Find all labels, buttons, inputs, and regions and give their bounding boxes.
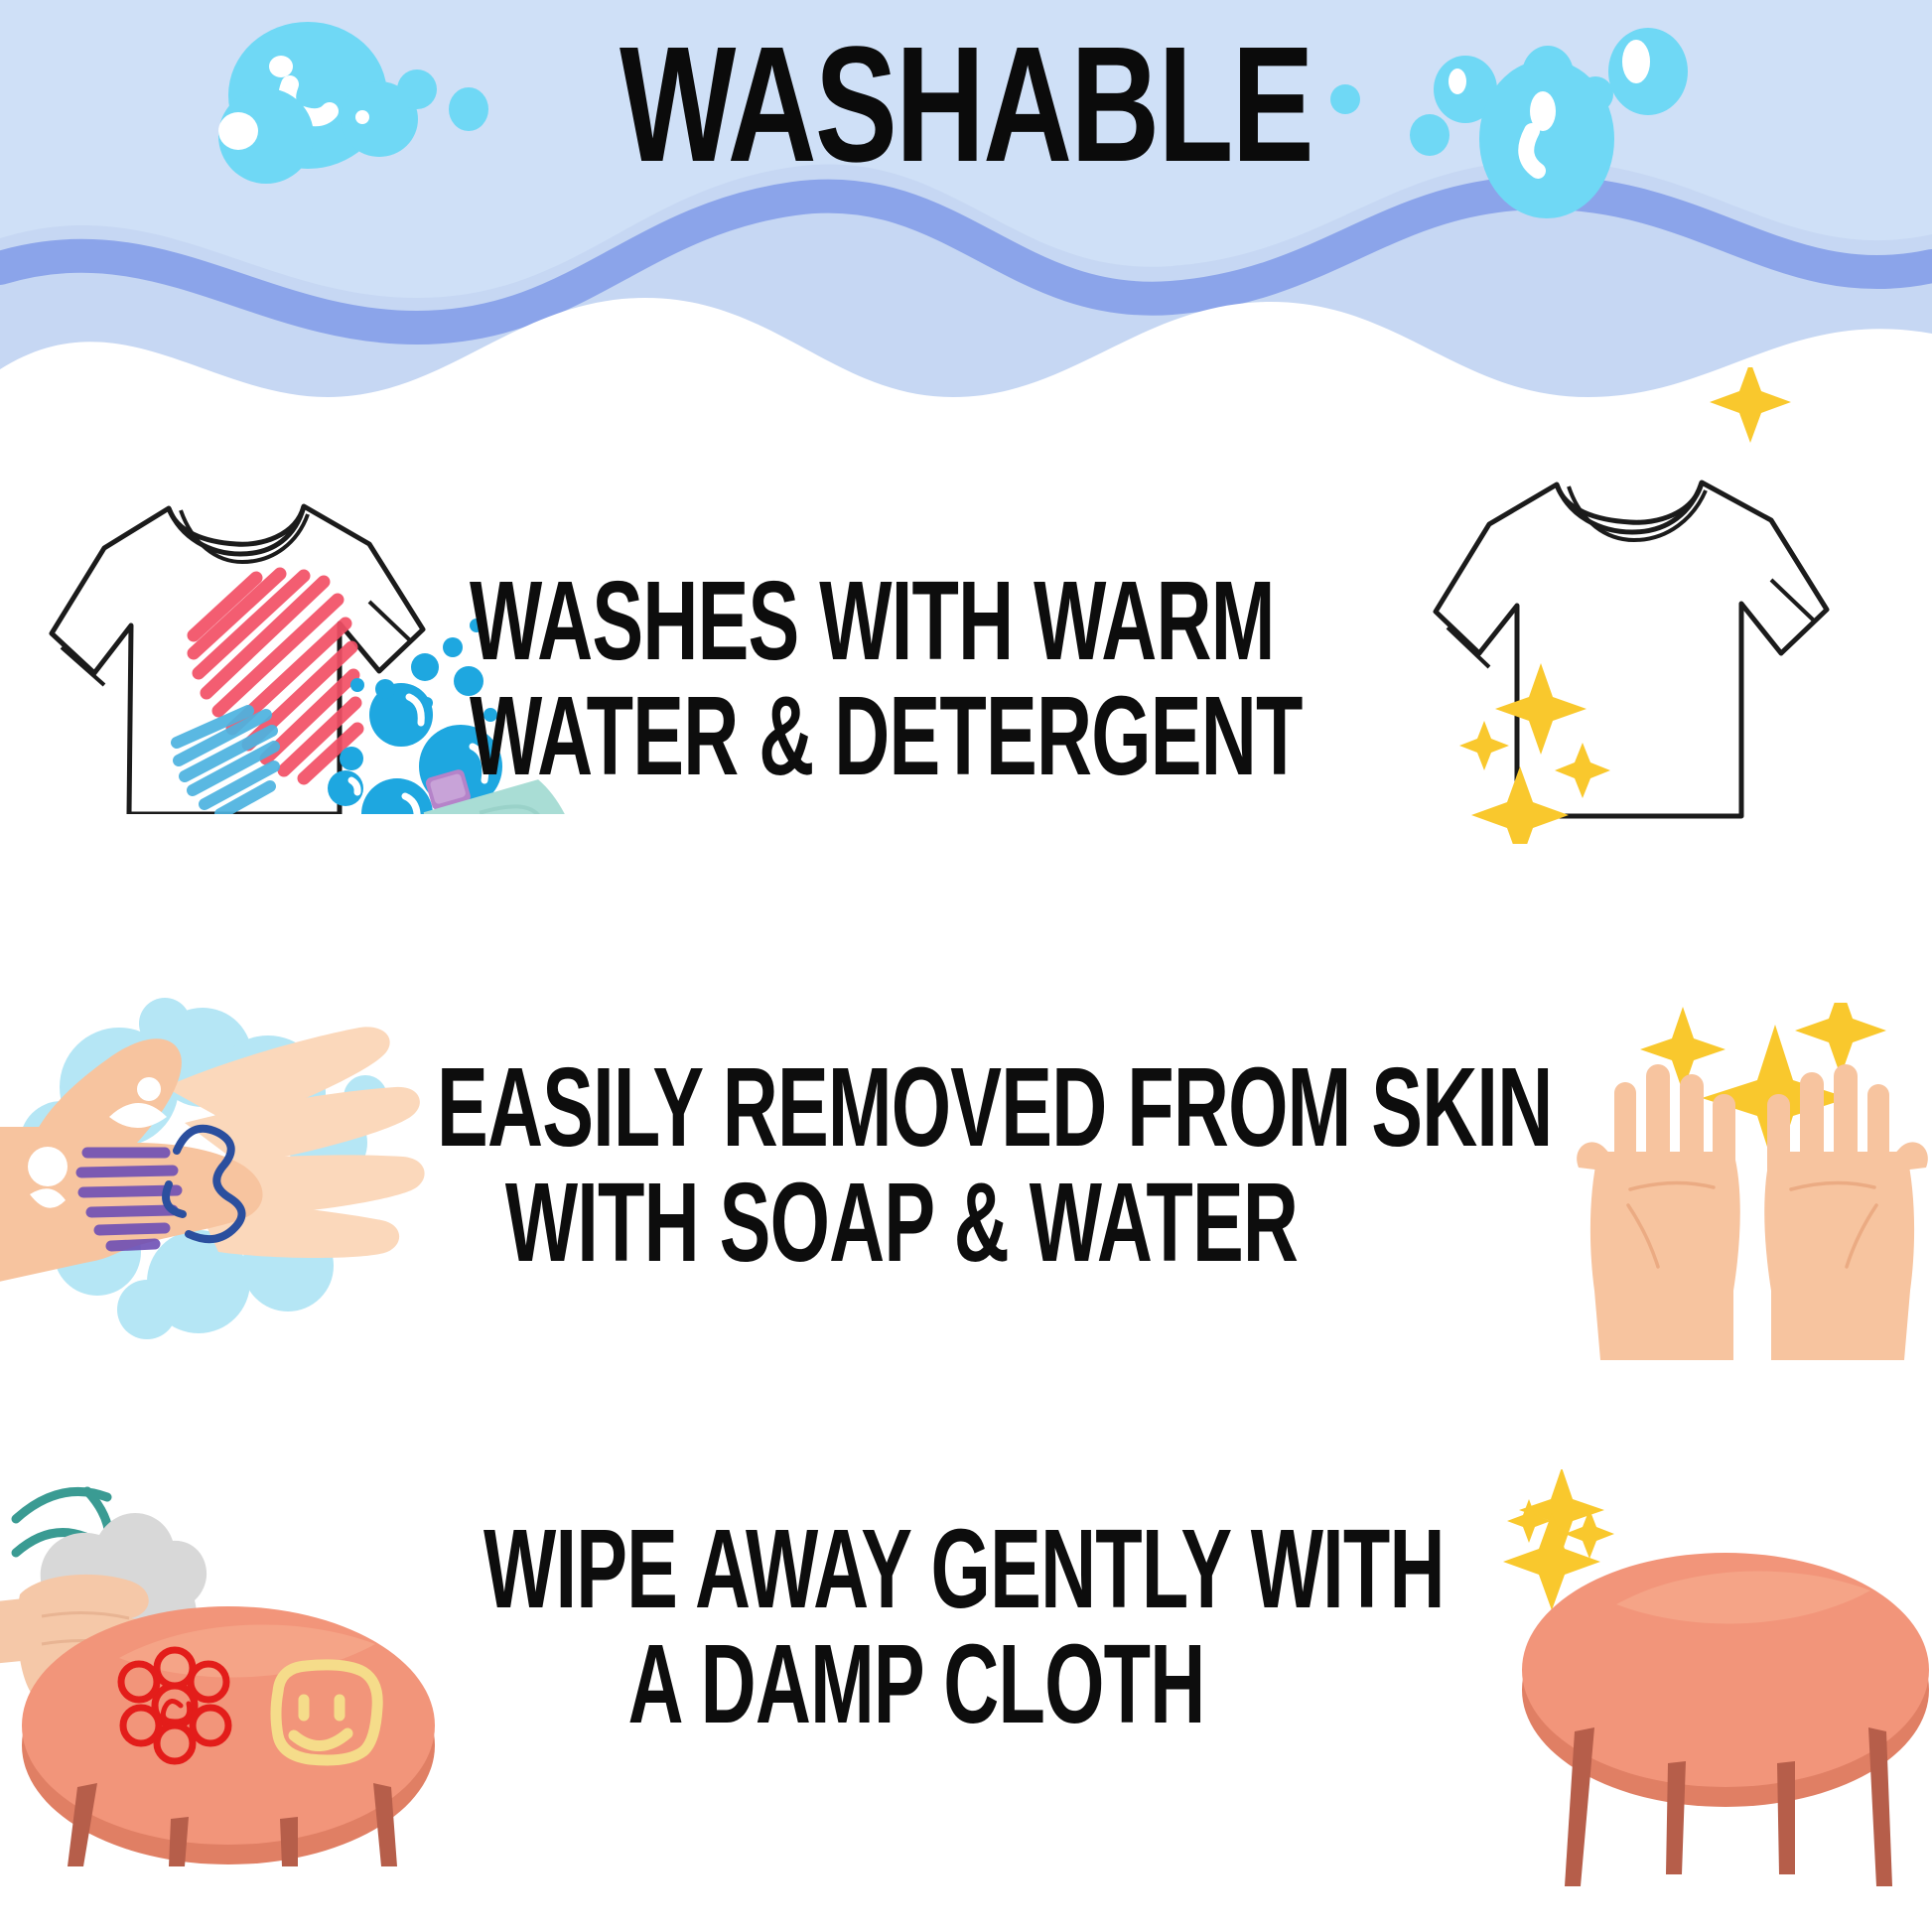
- row-wipe-text: WIPE AWAY GENTLY WITH A DAMP CLOTH: [483, 1512, 1349, 1742]
- clean-tshirt-illustration: [1390, 367, 1926, 844]
- tshirt-outline-icon: [1436, 483, 1827, 816]
- row-washes-text: WASHES WITH WARM WATER & DETERGENT: [470, 564, 1264, 794]
- clean-table-illustration: [1489, 1469, 1932, 1886]
- hand-right-icon: [1764, 1064, 1928, 1360]
- poster-canvas: WASHABLE: [0, 0, 1932, 1932]
- hand-left-icon: [1577, 1064, 1740, 1360]
- dirty-table-illustration: [0, 1370, 477, 1866]
- row-skin-text: EASILY REMOVED FROM SKIN WITH SOAP & WAT…: [437, 1050, 1366, 1281]
- table-icon: [1522, 1553, 1929, 1886]
- header-banner: WASHABLE: [0, 0, 1932, 397]
- page-title: WASHABLE: [155, 22, 1778, 189]
- hands-washing-illustration: [0, 968, 437, 1395]
- clean-hands-illustration: [1559, 1003, 1932, 1400]
